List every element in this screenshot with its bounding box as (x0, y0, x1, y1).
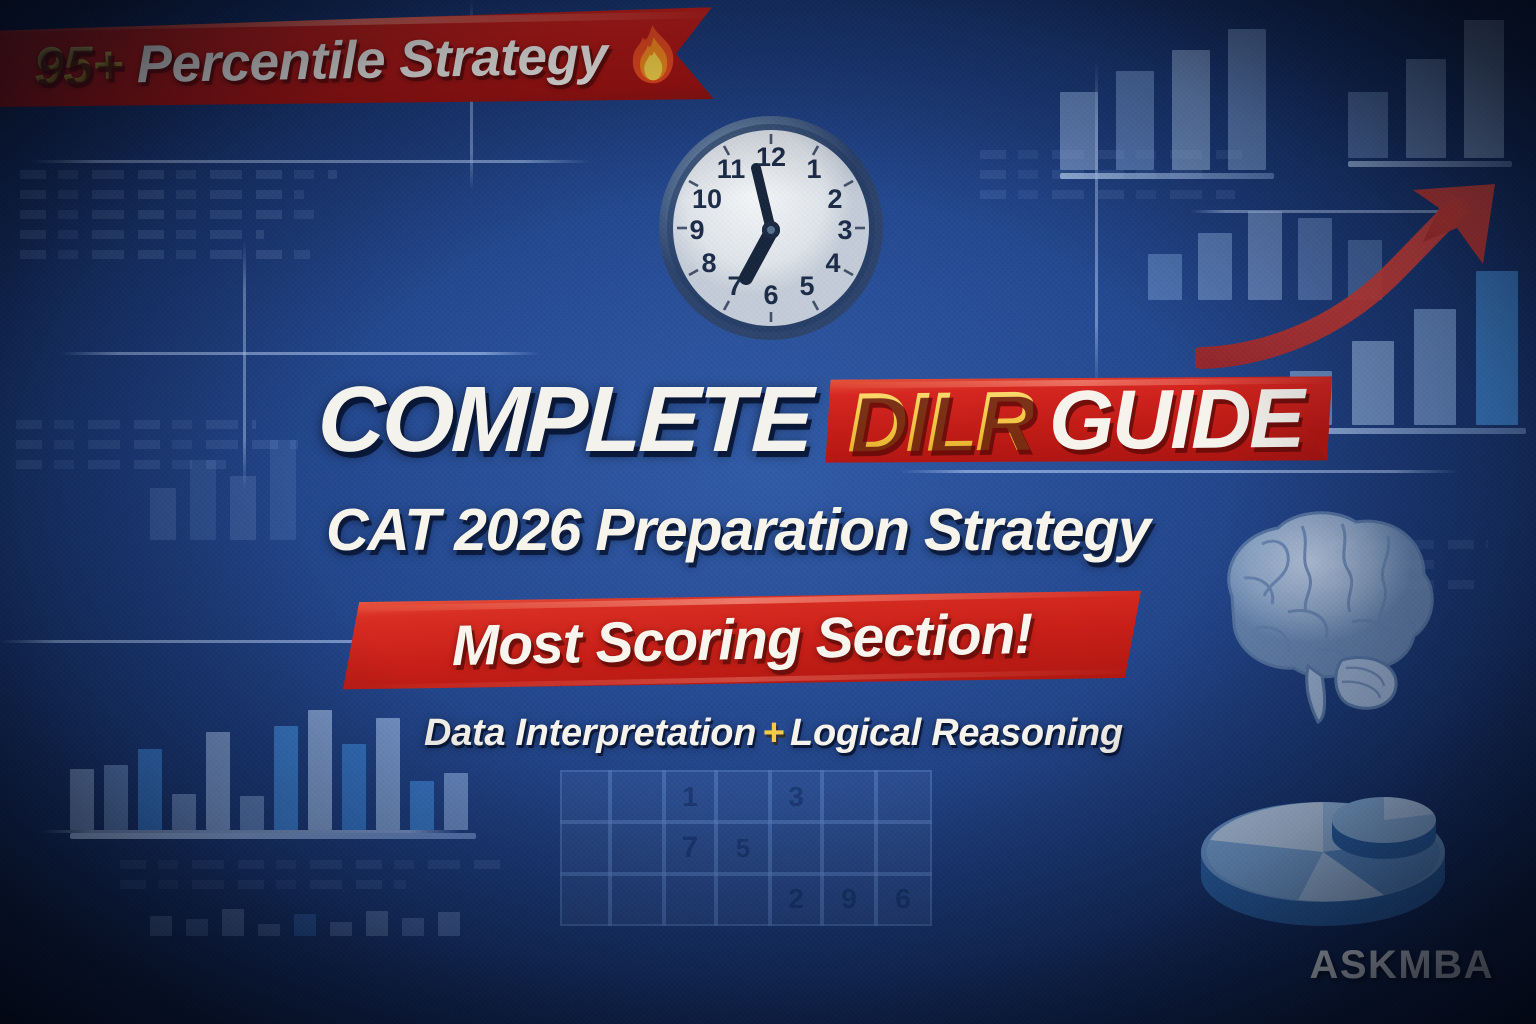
svg-text:11: 11 (717, 154, 746, 184)
banner-arrow-icon (1330, 381, 1375, 433)
top-ribbon-text: 95+ Percentile Strategy (33, 25, 607, 97)
brand-watermark: ASKMBA (1309, 943, 1494, 988)
sudoku-cell (874, 770, 932, 824)
bar (342, 744, 366, 830)
sudoku-cell (608, 770, 666, 824)
bar (330, 922, 352, 936)
decorative-bar-chart-left (70, 700, 468, 830)
bar (1148, 254, 1182, 300)
sudoku-cell: 3 (768, 770, 824, 824)
sudoku-cell (560, 872, 612, 926)
background-data-block-left-2 (16, 420, 316, 480)
bar (186, 919, 208, 936)
sudoku-cell (608, 872, 666, 926)
svg-text:3: 3 (837, 215, 852, 245)
sudoku-cell: 6 (874, 872, 932, 926)
decorative-bar-chart-mid-left (150, 430, 296, 540)
bar (1352, 341, 1394, 425)
bar (402, 918, 424, 936)
sudoku-grid: 1 3 7 5 2 9 6 (560, 770, 1000, 930)
bar (1060, 92, 1098, 170)
sudoku-cell: 5 (714, 820, 772, 876)
background-data-block-right (980, 150, 1280, 210)
bar (1116, 71, 1154, 170)
sudoku-cell: 1 (662, 770, 718, 824)
bar (1476, 271, 1518, 425)
background-data-block-farright (1330, 540, 1510, 600)
scoring-banner-label: Most Scoring Section! (451, 601, 1033, 679)
bar (150, 916, 172, 936)
sudoku-cell: 9 (820, 872, 878, 926)
decorative-bar-chart-top-right (1060, 20, 1266, 170)
bar (294, 914, 316, 936)
sudoku-cell (714, 872, 772, 926)
bar (1228, 29, 1266, 170)
bar (172, 794, 196, 830)
bar (1198, 233, 1232, 300)
sudoku-cell (820, 770, 878, 824)
background-data-block-left (20, 170, 350, 270)
background-rule-vertical (1095, 60, 1098, 390)
svg-text:9: 9 (689, 215, 704, 245)
dilr-guide-banner: DILR GUIDE (824, 374, 1332, 465)
bar (150, 488, 176, 540)
svg-text:6: 6 (763, 280, 778, 310)
bar (274, 726, 298, 830)
bar (1406, 59, 1446, 158)
bar (240, 796, 264, 830)
svg-text:10: 10 (692, 184, 722, 214)
analog-wall-clock: 12 1 2 3 4 5 6 7 8 9 10 11 (655, 112, 887, 344)
bar (222, 909, 244, 936)
bar (410, 781, 434, 830)
svg-text:7: 7 (727, 271, 742, 301)
tagline-left: Data Interpretation (424, 712, 756, 754)
bar (70, 769, 94, 830)
svg-text:12: 12 (756, 142, 786, 172)
tagline-plus-icon: + (762, 712, 784, 754)
sudoku-cell (820, 820, 878, 876)
sudoku-cell: 2 (768, 872, 824, 926)
svg-text:8: 8 (701, 248, 716, 278)
decorative-bar-chart-top-far-right (1348, 8, 1504, 158)
bar (190, 460, 216, 540)
sudoku-cell: 7 (662, 820, 718, 876)
bar (438, 912, 460, 936)
bar (308, 710, 332, 830)
bar (376, 718, 400, 830)
banner-arrow-tail-icon (1306, 428, 1338, 464)
bar (444, 773, 468, 830)
tagline-right: Logical Reasoning (790, 712, 1123, 754)
chart-axis (70, 833, 476, 839)
sudoku-cell (874, 820, 932, 876)
bar (1298, 218, 1332, 300)
brain-illustration (1192, 500, 1462, 730)
title-complete: COMPLETE (316, 366, 812, 473)
background-rule (30, 160, 590, 163)
chart-axis (1060, 173, 1274, 179)
svg-text:1: 1 (806, 154, 821, 184)
bar (206, 732, 230, 830)
bar (270, 440, 296, 540)
bar (1172, 50, 1210, 170)
most-scoring-section-banner: Most Scoring Section! (341, 586, 1143, 695)
percentile-highlight: 95+ (33, 35, 123, 96)
bar (1348, 92, 1388, 158)
red-growth-arrow (1195, 180, 1525, 370)
bar (366, 911, 388, 936)
bar (138, 749, 162, 830)
bar (1464, 20, 1504, 158)
bar (1414, 309, 1456, 425)
percentile-label: Percentile Strategy (136, 26, 608, 94)
chart-axis (1348, 161, 1512, 167)
sudoku-cell (662, 872, 718, 926)
background-rule (40, 830, 460, 833)
sudoku-cell (560, 820, 612, 876)
background-data-block-bottom (120, 860, 540, 900)
3d-pie-chart (1178, 740, 1478, 940)
bar (1248, 211, 1282, 300)
top-ribbon-banner: 95+ Percentile Strategy (0, 7, 727, 113)
main-title: COMPLETE DILR GUIDE (318, 366, 1332, 473)
bar (230, 476, 256, 540)
bar (258, 924, 280, 936)
bar (104, 765, 128, 830)
tagline: Data Interpretation+Logical Reasoning (424, 712, 1123, 755)
sudoku-cell (560, 770, 612, 824)
poster-canvas: 12 1 2 3 4 5 6 7 8 9 10 11 (0, 0, 1536, 1024)
fire-icon (625, 23, 682, 86)
background-rule (1190, 210, 1490, 213)
svg-text:4: 4 (825, 248, 840, 278)
decorative-bar-chart-lower-left (150, 890, 460, 936)
background-rule (60, 352, 540, 355)
svg-text:2: 2 (827, 184, 842, 214)
background-rule-vertical (243, 240, 246, 490)
sudoku-cell (714, 770, 772, 824)
decorative-bar-chart-mid-right (1148, 180, 1382, 300)
sudoku-cell (768, 820, 824, 876)
sudoku-cell (608, 820, 666, 876)
subtitle: CAT 2026 Preparation Strategy (326, 496, 1150, 564)
svg-text:5: 5 (799, 271, 814, 301)
bar (1348, 240, 1382, 300)
